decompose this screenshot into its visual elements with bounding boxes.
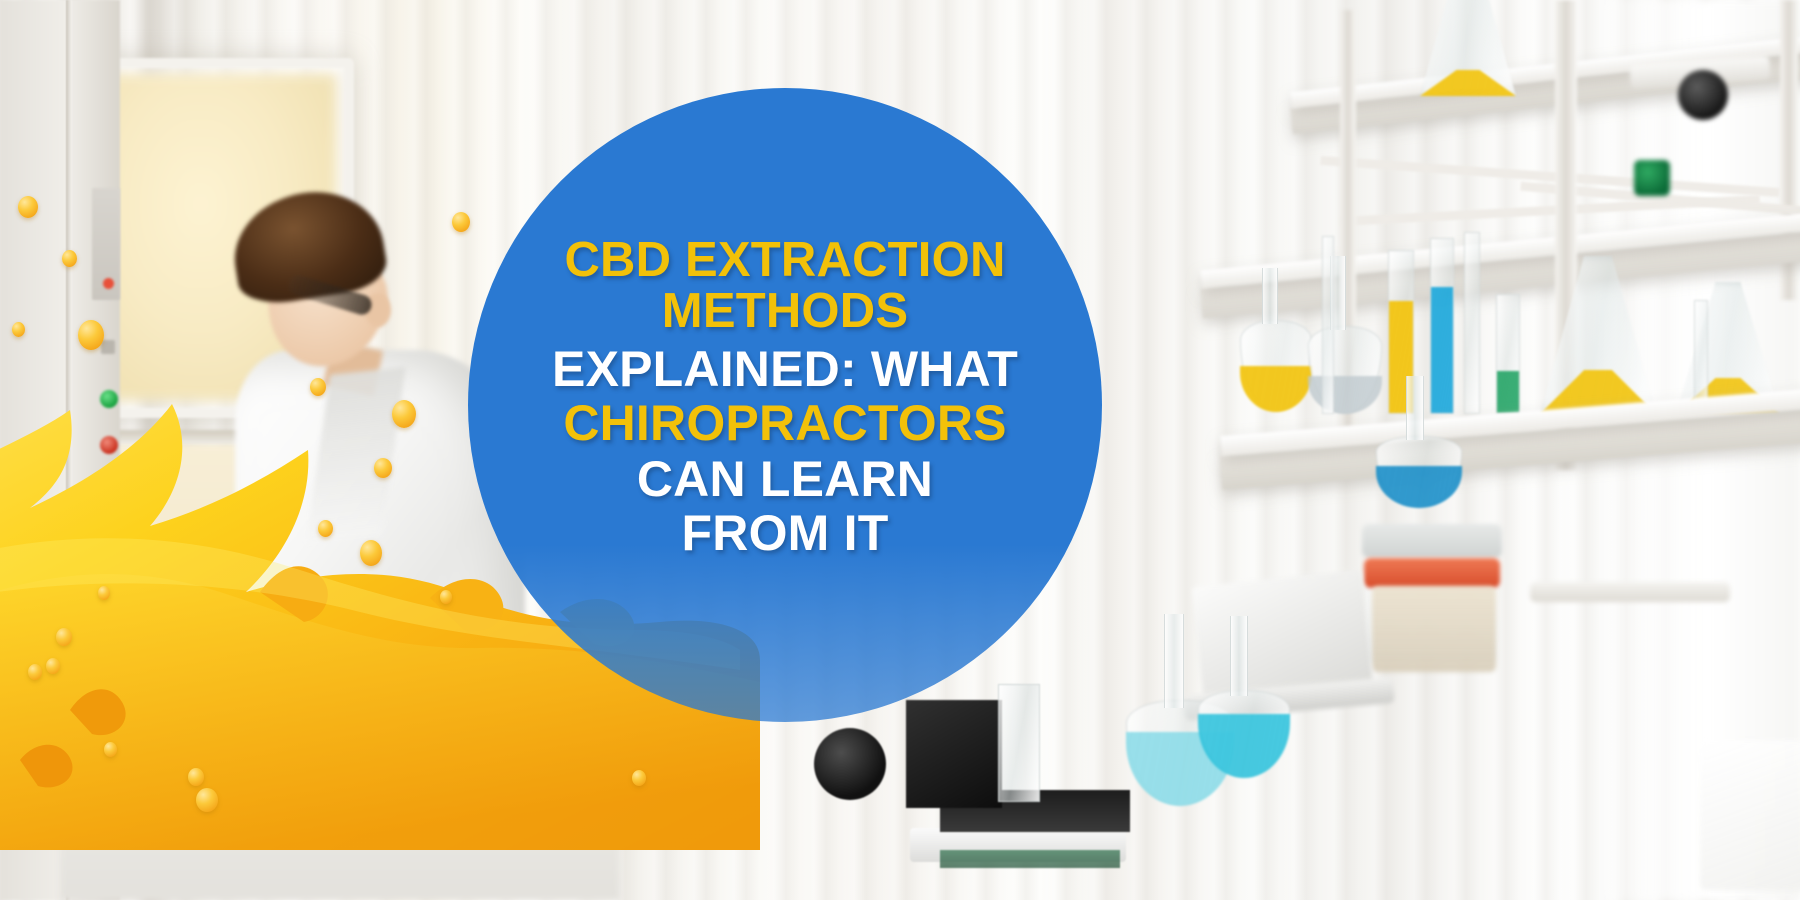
red-indicator-light-icon — [103, 278, 114, 289]
droplet — [98, 586, 110, 600]
droplet — [632, 770, 646, 786]
droplet — [318, 520, 333, 537]
cyan-flask-1-neck — [1164, 614, 1184, 708]
droplet — [310, 378, 326, 396]
petri-dish-red — [1364, 558, 1500, 588]
title-line-2: METHODS — [468, 287, 1102, 336]
shelf-support-diagonal — [1530, 582, 1730, 602]
microscope-focus-knob — [814, 728, 886, 800]
graduated-cylinder-cyan — [1430, 238, 1454, 414]
droplet — [46, 658, 60, 674]
droplet — [78, 320, 104, 350]
round-flask-blue-neck — [1406, 376, 1424, 440]
microscope-slide — [940, 850, 1120, 868]
volumetric-flask-1 — [1240, 320, 1312, 412]
pipette-1 — [1464, 232, 1480, 414]
droplet — [374, 458, 392, 478]
droplet — [360, 540, 382, 566]
glass-shelving-unit — [1090, 0, 1800, 900]
volumetric-flask-1-neck — [1262, 268, 1278, 324]
title-line-1: CBD EXTRACTION — [468, 236, 1102, 285]
droplet — [12, 322, 25, 337]
droplet — [56, 628, 72, 646]
green-sample-block — [1634, 160, 1670, 196]
title-line-4: CHIROPRACTORS — [468, 398, 1102, 448]
erlenmeyer-flask-top — [1420, 0, 1516, 96]
droplet — [392, 400, 416, 428]
volumetric-flask-2 — [1308, 326, 1382, 414]
title-line-6: FROM IT — [468, 508, 1102, 558]
jar-contents — [1372, 586, 1496, 672]
cyan-flask-2-neck — [1230, 616, 1248, 696]
small-beaker-green — [1496, 294, 1520, 414]
cyan-flask-2 — [1198, 690, 1290, 778]
erlenmeyer-flask-mid-1 — [1540, 256, 1656, 414]
bench-surface-right — [1700, 740, 1800, 890]
droplet — [28, 664, 42, 680]
title-line-5: CAN LEARN — [468, 454, 1102, 504]
droplet — [440, 590, 452, 604]
droplet — [62, 250, 77, 267]
droplet — [196, 788, 218, 812]
sample-jar-lid — [1362, 524, 1502, 558]
round-flask-blue — [1376, 436, 1462, 508]
banner-root: CBD EXTRACTION METHODS EXPLAINED: WHAT C… — [0, 0, 1800, 900]
banner-title: CBD EXTRACTION METHODS EXPLAINED: WHAT C… — [468, 236, 1102, 558]
droplet — [188, 768, 204, 786]
microscope-eyepiece-right — [1678, 70, 1728, 120]
droplet — [104, 742, 117, 757]
title-line-3: EXPLAINED: WHAT — [468, 344, 1102, 394]
droplet — [18, 196, 38, 218]
pipette-2 — [1322, 236, 1334, 414]
